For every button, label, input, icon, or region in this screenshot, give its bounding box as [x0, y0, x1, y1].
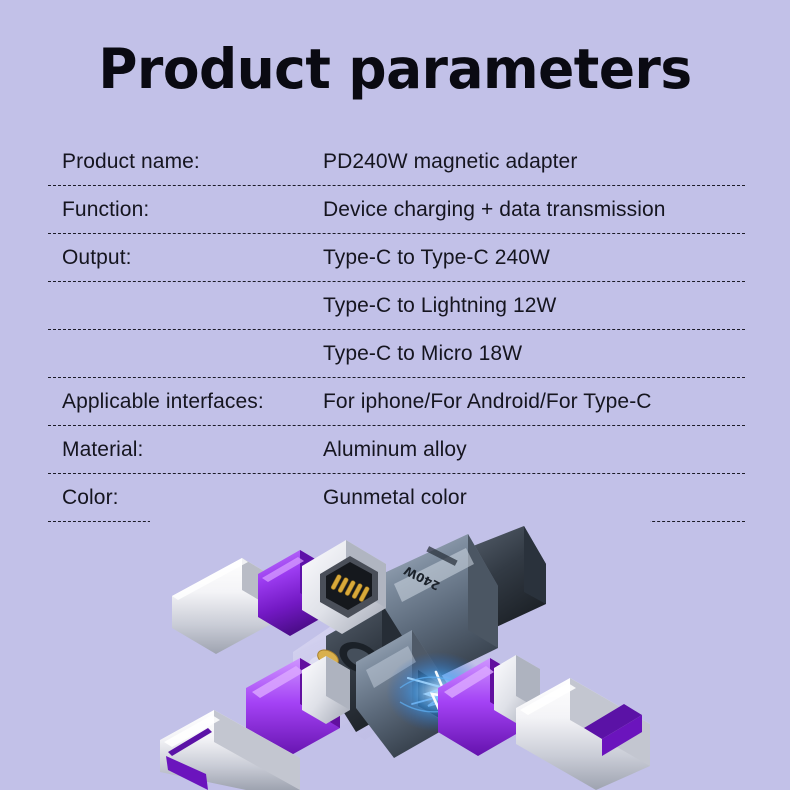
- spec-label: Applicable interfaces:: [48, 390, 323, 414]
- spec-label: Color:: [48, 486, 323, 510]
- table-row: Output: Type-C to Type-C 240W: [48, 234, 745, 282]
- table-row: Product name: PD240W magnetic adapter: [48, 138, 745, 186]
- product-parameters-page: Product parameters Product name: PD240W …: [0, 0, 790, 790]
- table-row: Applicable interfaces: For iphone/For An…: [48, 378, 745, 426]
- table-row: Function: Device charging + data transmi…: [48, 186, 745, 234]
- table-row: Type-C to Micro 18W: [48, 330, 745, 378]
- spec-label: Product name:: [48, 150, 323, 174]
- spec-value: Type-C to Type-C 240W: [323, 246, 745, 270]
- spec-value: PD240W magnetic adapter: [323, 150, 745, 174]
- spec-value: Device charging + data transmission: [323, 198, 745, 222]
- spec-value: Type-C to Lightning 12W: [323, 294, 745, 318]
- table-row: Material: Aluminum alloy: [48, 426, 745, 474]
- spec-value: Aluminum alloy: [323, 438, 745, 462]
- product-photo: 240W: [150, 512, 650, 790]
- spec-label: Output:: [48, 246, 323, 270]
- page-title: Product parameters: [12, 38, 778, 100]
- spec-table: Product name: PD240W magnetic adapter Fu…: [48, 138, 745, 522]
- spec-label: Material:: [48, 438, 323, 462]
- spec-label: Function:: [48, 198, 323, 222]
- table-row: Type-C to Lightning 12W: [48, 282, 745, 330]
- spec-value: For iphone/For Android/For Type-C: [323, 390, 745, 414]
- spec-value: Gunmetal color: [323, 486, 745, 510]
- spec-value: Type-C to Micro 18W: [323, 342, 745, 366]
